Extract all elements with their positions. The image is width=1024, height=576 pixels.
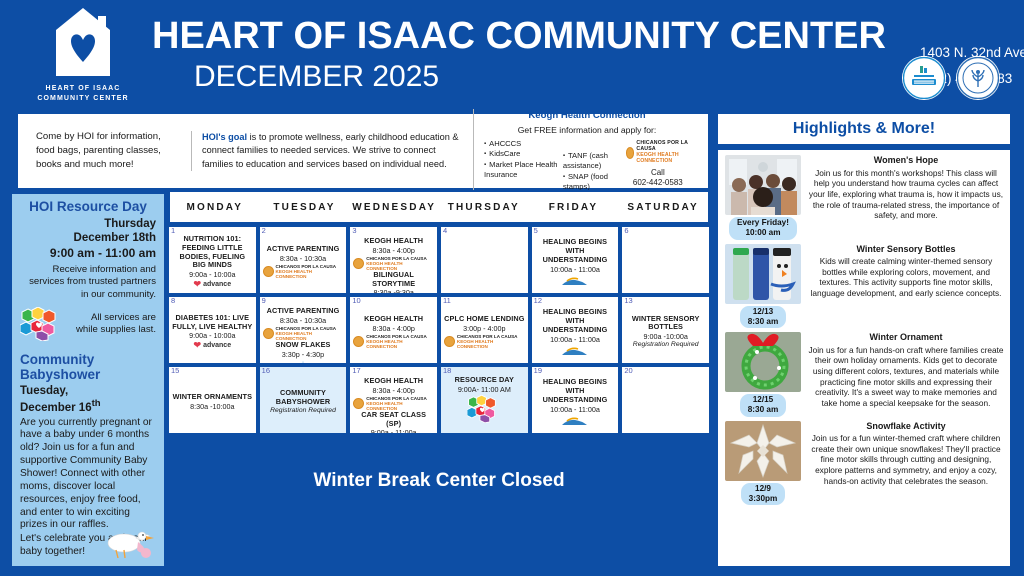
day-number: 19: [534, 367, 542, 375]
calendar-day-cell[interactable]: 2ACTIVE PARENTING8:30a - 10:30aCHICANOS …: [259, 226, 348, 294]
highlight-description: Join us for a fun hands-on craft where f…: [808, 345, 1004, 409]
babyshower-title: Community Babyshower: [20, 353, 156, 383]
first-things-first-icon: [902, 56, 946, 100]
resource-day-note: All services are while supplies last.: [67, 312, 156, 337]
event-name: RESOURCE DAY: [444, 376, 525, 385]
event-registration-note: Registration Required: [625, 341, 706, 349]
keogh-item: KidsCare: [484, 149, 559, 159]
event-time: 8:30a - 4:00p: [353, 324, 434, 333]
calendar-event[interactable]: ACTIVE PARENTING8:30a - 10:30aCHICANOS P…: [263, 307, 344, 341]
calendar-event[interactable]: ACTIVE PARENTING8:30a - 10:30aCHICANOS P…: [263, 245, 344, 279]
day-number: 1: [171, 227, 175, 235]
resource-day-date: December 18th: [20, 231, 156, 245]
calendar-event[interactable]: CAR SEAT CLASS (SP)9:00a - 11:00aRegistr…: [353, 411, 434, 434]
logo-wordmark: HEART OF ISAAC COMMUNITY CENTER: [37, 84, 128, 104]
event-name: WINTER SENSORY BOTTLES: [625, 315, 706, 333]
event-name: BILINGUAL STORYTIME: [353, 271, 434, 289]
keogh-item: TANF (cash assistance): [563, 151, 622, 172]
chicanos-por-la-causa-icon: CHICANOS POR LA CAUSAKEOGH HEALTH CONNEC…: [353, 334, 434, 349]
chicanos-por-la-causa-icon: CHICANOS POR LA CAUSAKEOGH HEALTH CONNEC…: [263, 326, 344, 341]
event-time: 8:30a - 4:00p: [353, 246, 434, 255]
weekday-monday: MONDAY: [170, 202, 260, 213]
resource-day-weekday: Thursday: [20, 217, 156, 231]
day-number: 9: [262, 297, 266, 305]
calendar-day-cell[interactable]: 8DIABETES 101: LIVE FULLY, LIVE HEALTHY9…: [168, 296, 257, 364]
event-time: 9:00A- 11:00 AM: [444, 385, 525, 394]
calendar-event[interactable]: RESOURCE DAY9:00A- 11:00 AM: [444, 376, 525, 428]
calendar-body: 1NUTRITION 101: FEEDING LITTLE BODIES, F…: [168, 226, 710, 434]
highlight-chip-line-2: 10:00 am: [745, 228, 780, 237]
event-logo: [535, 345, 616, 356]
resource-day-title: HOI Resource Day: [20, 200, 156, 215]
highlight-chip-line-2: 3:30pm: [749, 494, 778, 503]
hope-logo-icon: [558, 275, 592, 286]
snowflake-icon: ❄: [295, 360, 312, 364]
event-name: HEALING BEGINS WITH UNDERSTANDING: [535, 238, 616, 264]
page-title: HEART OF ISAAC COMMUNITY CENTER: [152, 17, 886, 55]
day-number: 6: [624, 227, 628, 235]
resource-day-time: 9:00 am - 11:00 am: [20, 246, 156, 261]
event-logo: [535, 275, 616, 286]
event-time: 8:30a -10:00a: [172, 402, 253, 411]
hoi-logo: HEART OF ISAAC COMMUNITY CENTER: [18, 6, 148, 104]
isaac-school-district-icon: [956, 56, 1000, 100]
babyshower-weekday: Tuesday,: [20, 385, 156, 399]
day-number: 11: [443, 297, 451, 305]
event-logo: ❄: [263, 360, 344, 364]
event-name: CPLC HOME LENDING: [444, 315, 525, 324]
calendar-event[interactable]: KEOGH HEALTH8:30a - 4:00pCHICANOS POR LA…: [353, 377, 434, 411]
resource-day-desc: Receive information and services from tr…: [20, 264, 156, 301]
keogh-item: AHCCCS: [484, 139, 559, 149]
day-number: 4: [443, 227, 447, 235]
calendar-event[interactable]: NUTRITION 101: FEEDING LITTLE BODIES, FU…: [172, 235, 253, 289]
event-name: KEOGH HEALTH: [353, 377, 434, 386]
event-logo: CHICANOS POR LA CAUSAKEOGH HEALTH CONNEC…: [353, 334, 434, 349]
keogh-subtitle: Get FREE information and apply for:: [484, 124, 690, 136]
event-time: 8:30a - 10:30a: [263, 254, 344, 263]
calendar-day-cell[interactable]: 11CPLC HOME LENDING3:00p - 4:00pCHICANOS…: [440, 296, 529, 364]
calendar-event[interactable]: KEOGH HEALTH8:30a - 4:00pCHICANOS POR LA…: [353, 315, 434, 349]
day-number: 8: [171, 297, 175, 305]
highlight-title: Snowflake Activity: [808, 421, 1004, 433]
event-name: WINTER ORNAMENTS: [172, 393, 253, 402]
event-logo: CHICANOS POR LA CAUSAKEOGH HEALTH CONNEC…: [353, 256, 434, 271]
calendar-day-cell[interactable]: 1NUTRITION 101: FEEDING LITTLE BODIES, F…: [168, 226, 257, 294]
event-logo: ❤advance: [172, 341, 253, 350]
highlight-chip-line-1: 12/13: [753, 307, 774, 316]
highlights-panel: Every Friday!10:00 amWomen's HopeJoin us…: [718, 150, 1010, 566]
calendar-day-cell[interactable]: 6: [621, 226, 710, 294]
info-hoi-goal: HOI's goal is to promote wellness, early…: [191, 131, 473, 171]
day-number: 2: [262, 227, 266, 235]
chicanos-por-la-causa-icon: CHICANOS POR LA CAUSAKEOGH HEALTH CONNEC…: [353, 256, 434, 271]
advance-logo-icon: ❤advance: [194, 280, 232, 289]
calendar-week-row: 15WINTER ORNAMENTS8:30a -10:00a16COMMUNI…: [168, 366, 710, 434]
logo-line-2: COMMUNITY CENTER: [37, 94, 128, 104]
keogh-list-right: TANF (cash assistance) SNAP (food stamps…: [563, 139, 622, 193]
calendar-day-cell[interactable]: 5HEALING BEGINS WITH UNDERSTANDING10:00a…: [531, 226, 620, 294]
event-logo: [535, 415, 616, 426]
title-block: HEART OF ISAAC COMMUNITY CENTER DECEMBER…: [152, 17, 886, 93]
chicanos-por-la-causa-icon: CHICANOS POR LA CAUSAKEOGH HEALTH CONNEC…: [444, 334, 525, 349]
sensory-bottles-photo: [725, 244, 801, 304]
event-time: 9:00a - 10:00a: [172, 331, 253, 340]
event-name: ACTIVE PARENTING: [263, 245, 344, 254]
calendar-event[interactable]: SNOW FLAKES3:30p - 4:30p❄: [263, 341, 344, 364]
highlight-item[interactable]: 12/138:30 amWinter Sensory BottlesKids w…: [724, 244, 1004, 329]
highlight-title: Winter Ornament: [808, 332, 1004, 344]
event-logo: CHICANOS POR LA CAUSAKEOGH HEALTH CONNEC…: [444, 334, 525, 349]
calendar-day-cell[interactable]: 10KEOGH HEALTH8:30a - 4:00pCHICANOS POR …: [349, 296, 438, 364]
highlight-date-chip: 12/138:30 am: [740, 306, 787, 329]
hope-logo-icon: [558, 415, 592, 426]
highlight-chip-line-1: 12/15: [753, 395, 774, 404]
highlight-item[interactable]: 12/158:30 amWinter OrnamentJoin us for a…: [724, 332, 1004, 417]
calendar-event[interactable]: WINTER SENSORY BOTTLES9:00a -10:00aRegis…: [625, 315, 706, 350]
calendar-week-row: 1NUTRITION 101: FEEDING LITTLE BODIES, F…: [168, 226, 710, 294]
calendar-day-cell[interactable]: 16COMMUNITY BABYSHOWERRegistration Requi…: [259, 366, 348, 434]
calendar-event[interactable]: BILINGUAL STORYTIME8:30a -9:30a: [353, 271, 434, 294]
day-number: 15: [171, 367, 179, 375]
cic-line-1: CHICANOS POR LA CAUSA: [636, 140, 688, 152]
highlight-date-chip: Every Friday!10:00 am: [729, 217, 797, 240]
event-name: ACTIVE PARENTING: [263, 307, 344, 316]
event-registration-note: Registration Required: [263, 407, 344, 415]
event-name: COMMUNITY BABYSHOWER: [263, 389, 344, 407]
calendar-event[interactable]: CPLC HOME LENDING3:00p - 4:00pCHICANOS P…: [444, 315, 525, 349]
highlight-description: Join us for this month's workshops! This…: [808, 168, 1004, 221]
keogh-call-block: CHICANOS POR LA CAUSA KEOGH HEALTH CONNE…: [626, 139, 690, 193]
event-logo: [444, 395, 525, 428]
keogh-list-left: AHCCCS KidsCare Market Place Health Insu…: [484, 139, 559, 193]
partner-logos: [902, 56, 1000, 100]
winter-ornament-photo: [725, 332, 801, 392]
highlight-item[interactable]: Every Friday!10:00 amWomen's HopeJoin us…: [724, 155, 1004, 240]
highlight-chip-line-1: 12/9: [755, 484, 771, 493]
day-number: 10: [352, 297, 360, 305]
month-title: DECEMBER 2025: [194, 61, 886, 93]
event-logo: ❤advance: [172, 280, 253, 289]
chicanos-por-la-causa-icon: CHICANOS POR LA CAUSAKEOGH HEALTH CONNEC…: [263, 264, 344, 279]
calendar-day-cell[interactable]: 20: [621, 366, 710, 434]
event-logo: CHICANOS POR LA CAUSAKEOGH HEALTH CONNEC…: [263, 326, 344, 341]
event-name: SNOW FLAKES: [263, 341, 344, 350]
calendar-event[interactable]: DIABETES 101: LIVE FULLY, LIVE HEALTHY9:…: [172, 314, 253, 351]
event-time: 3:30p - 4:30p: [263, 350, 344, 359]
calendar-day-cell[interactable]: 12HEALING BEGINS WITH UNDERSTANDING10:00…: [531, 296, 620, 364]
event-time: 9:00a - 11:00a: [353, 428, 434, 434]
event-time: 9:00a -10:00a: [625, 332, 706, 341]
paper-snowflake-photo: [725, 421, 801, 481]
calendar: MONDAY TUESDAY WEDNESDAY THURSDAY FRIDAY…: [168, 190, 710, 436]
highlight-chip-line-2: 8:30 am: [748, 405, 779, 414]
event-name: DIABETES 101: LIVE FULLY, LIVE HEALTHY: [172, 314, 253, 332]
event-time: 10:00a - 11:00a: [535, 405, 616, 414]
highlight-date-chip: 12/158:30 am: [740, 394, 787, 417]
highlight-chip-line-2: 8:30 am: [748, 317, 779, 326]
advance-logo-icon: ❤advance: [194, 341, 232, 350]
calendar-day-cell[interactable]: 3KEOGH HEALTH8:30a - 4:00pCHICANOS POR L…: [349, 226, 438, 294]
calendar-event[interactable]: HEALING BEGINS WITH UNDERSTANDING10:00a …: [535, 238, 616, 285]
hope-logo-icon: [558, 345, 592, 356]
family-services-icon: [467, 395, 501, 428]
calendar-header-row: MONDAY TUESDAY WEDNESDAY THURSDAY FRIDAY…: [168, 190, 710, 224]
event-time: 8:30a - 10:30a: [263, 316, 344, 325]
chicanos-por-la-causa-icon: CHICANOS POR LA CAUSAKEOGH HEALTH CONNEC…: [353, 396, 434, 411]
day-number: 5: [534, 227, 538, 235]
calendar-event[interactable]: HEALING BEGINS WITH UNDERSTANDING10:00a …: [535, 308, 616, 355]
calendar-event[interactable]: HEALING BEGINS WITH UNDERSTANDING10:00a …: [535, 378, 616, 425]
weekday-friday: FRIDAY: [529, 202, 619, 213]
highlight-title: Women's Hope: [808, 155, 1004, 167]
event-time: 8:30a - 4:00p: [353, 386, 434, 395]
event-time: 3:00p - 4:00p: [444, 324, 525, 333]
babyshower-date: Tuesday, December 16th: [20, 385, 156, 416]
calendar-event[interactable]: KEOGH HEALTH8:30a - 4:00pCHICANOS POR LA…: [353, 237, 434, 271]
chicanos-por-la-causa-icon: CHICANOS POR LA CAUSA KEOGH HEALTH CONNE…: [626, 141, 690, 165]
highlight-chip-line-1: Every Friday!: [737, 218, 789, 227]
keogh-title: Keogh Health Connection: [484, 109, 690, 123]
event-name: NUTRITION 101: FEEDING LITTLE BODIES, FU…: [172, 235, 253, 270]
calendar-week-row: 8DIABETES 101: LIVE FULLY, LIVE HEALTHY9…: [168, 296, 710, 364]
event-time: 8:30a -9:30a: [353, 288, 434, 294]
weekday-tuesday: TUESDAY: [260, 202, 350, 213]
weekday-thursday: THURSDAY: [439, 202, 529, 213]
logo-line-1: HEART OF ISAAC: [37, 84, 128, 94]
day-number: 20: [624, 367, 632, 375]
family-services-icon: [20, 307, 62, 341]
calendar-day-cell[interactable]: 13WINTER SENSORY BOTTLES9:00a -10:00aReg…: [621, 296, 710, 364]
left-sidebar: HOI Resource Day Thursday December 18th …: [12, 194, 164, 566]
highlights-title: Highlights & More!: [793, 120, 935, 138]
day-number: 3: [352, 227, 356, 235]
event-time: 10:00a - 11:00a: [535, 335, 616, 344]
event-name: HEALING BEGINS WITH UNDERSTANDING: [535, 308, 616, 334]
cic-line-2: KEOGH HEALTH CONNECTION: [636, 152, 678, 164]
keogh-call-number: 602-442-0583: [626, 178, 690, 188]
event-name: HEALING BEGINS WITH UNDERSTANDING: [535, 378, 616, 404]
highlight-description: Kids will create calming winter-themed s…: [808, 256, 1004, 298]
weekday-wednesday: WEDNESDAY: [349, 202, 439, 213]
highlight-date-chip: 12/93:30pm: [741, 483, 786, 506]
info-come-by: Come by HOI for information, food bags, …: [26, 130, 191, 172]
calendar-event[interactable]: COMMUNITY BABYSHOWERRegistration Require…: [263, 389, 344, 415]
calendar-day-cell[interactable]: 9ACTIVE PARENTING8:30a - 10:30aCHICANOS …: [259, 296, 348, 364]
weekday-saturday: SATURDAY: [618, 202, 708, 213]
babyshower-desc: Are you currently pregnant or have a bab…: [20, 417, 156, 533]
day-number: 13: [624, 297, 632, 305]
keogh-item: Market Place Health Insurance: [484, 160, 559, 181]
highlight-title: Winter Sensory Bottles: [808, 244, 1004, 256]
event-time: 10:00a - 11:00a: [535, 265, 616, 274]
babyshower-date-sup: th: [92, 398, 101, 409]
babyshower-date-text: December 16: [20, 402, 92, 414]
page-header: HEART OF ISAAC COMMUNITY CENTER HEART OF…: [0, 0, 1024, 110]
hoi-goal-label: HOI's goal: [202, 132, 247, 142]
calendar-day-cell[interactable]: 15WINTER ORNAMENTS8:30a -10:00a: [168, 366, 257, 434]
calendar-day-cell[interactable]: 18RESOURCE DAY9:00A- 11:00 AM: [440, 366, 529, 434]
highlight-item[interactable]: 12/93:30pmSnowflake ActivityJoin us for …: [724, 421, 1004, 506]
calendar-day-cell[interactable]: 17KEOGH HEALTH8:30a - 4:00pCHICANOS POR …: [349, 366, 438, 434]
event-name: KEOGH HEALTH: [353, 315, 434, 324]
womens-group-photo: [725, 155, 801, 215]
winter-break-notice: Winter Break Center Closed: [168, 470, 710, 492]
day-number: 18: [443, 367, 451, 375]
calendar-day-cell[interactable]: 19HEALING BEGINS WITH UNDERSTANDING10:00…: [531, 366, 620, 434]
highlight-description: Join us for a fun winter-themed craft wh…: [808, 433, 1004, 486]
event-name: KEOGH HEALTH: [353, 237, 434, 246]
highlights-header: Highlights & More!: [718, 114, 1010, 144]
keogh-call-label: Call: [626, 168, 690, 178]
day-number: 17: [352, 367, 360, 375]
stork-baby-icon: [102, 526, 158, 560]
event-time: 9:00a - 10:00a: [172, 270, 253, 279]
event-logo: CHICANOS POR LA CAUSAKEOGH HEALTH CONNEC…: [263, 264, 344, 279]
event-logo: CHICANOS POR LA CAUSAKEOGH HEALTH CONNEC…: [353, 396, 434, 411]
calendar-event[interactable]: WINTER ORNAMENTS8:30a -10:00a: [172, 393, 253, 411]
day-number: 16: [262, 367, 270, 375]
calendar-day-cell[interactable]: 4: [440, 226, 529, 294]
info-bar: Come by HOI for information, food bags, …: [18, 114, 708, 188]
house-heart-icon: [52, 6, 114, 80]
info-keogh: Keogh Health Connection Get FREE informa…: [473, 109, 700, 192]
day-number: 12: [534, 297, 542, 305]
event-name: CAR SEAT CLASS (SP): [353, 411, 434, 429]
resource-day-when: Thursday December 18th 9:00 am - 11:00 a…: [20, 217, 156, 261]
